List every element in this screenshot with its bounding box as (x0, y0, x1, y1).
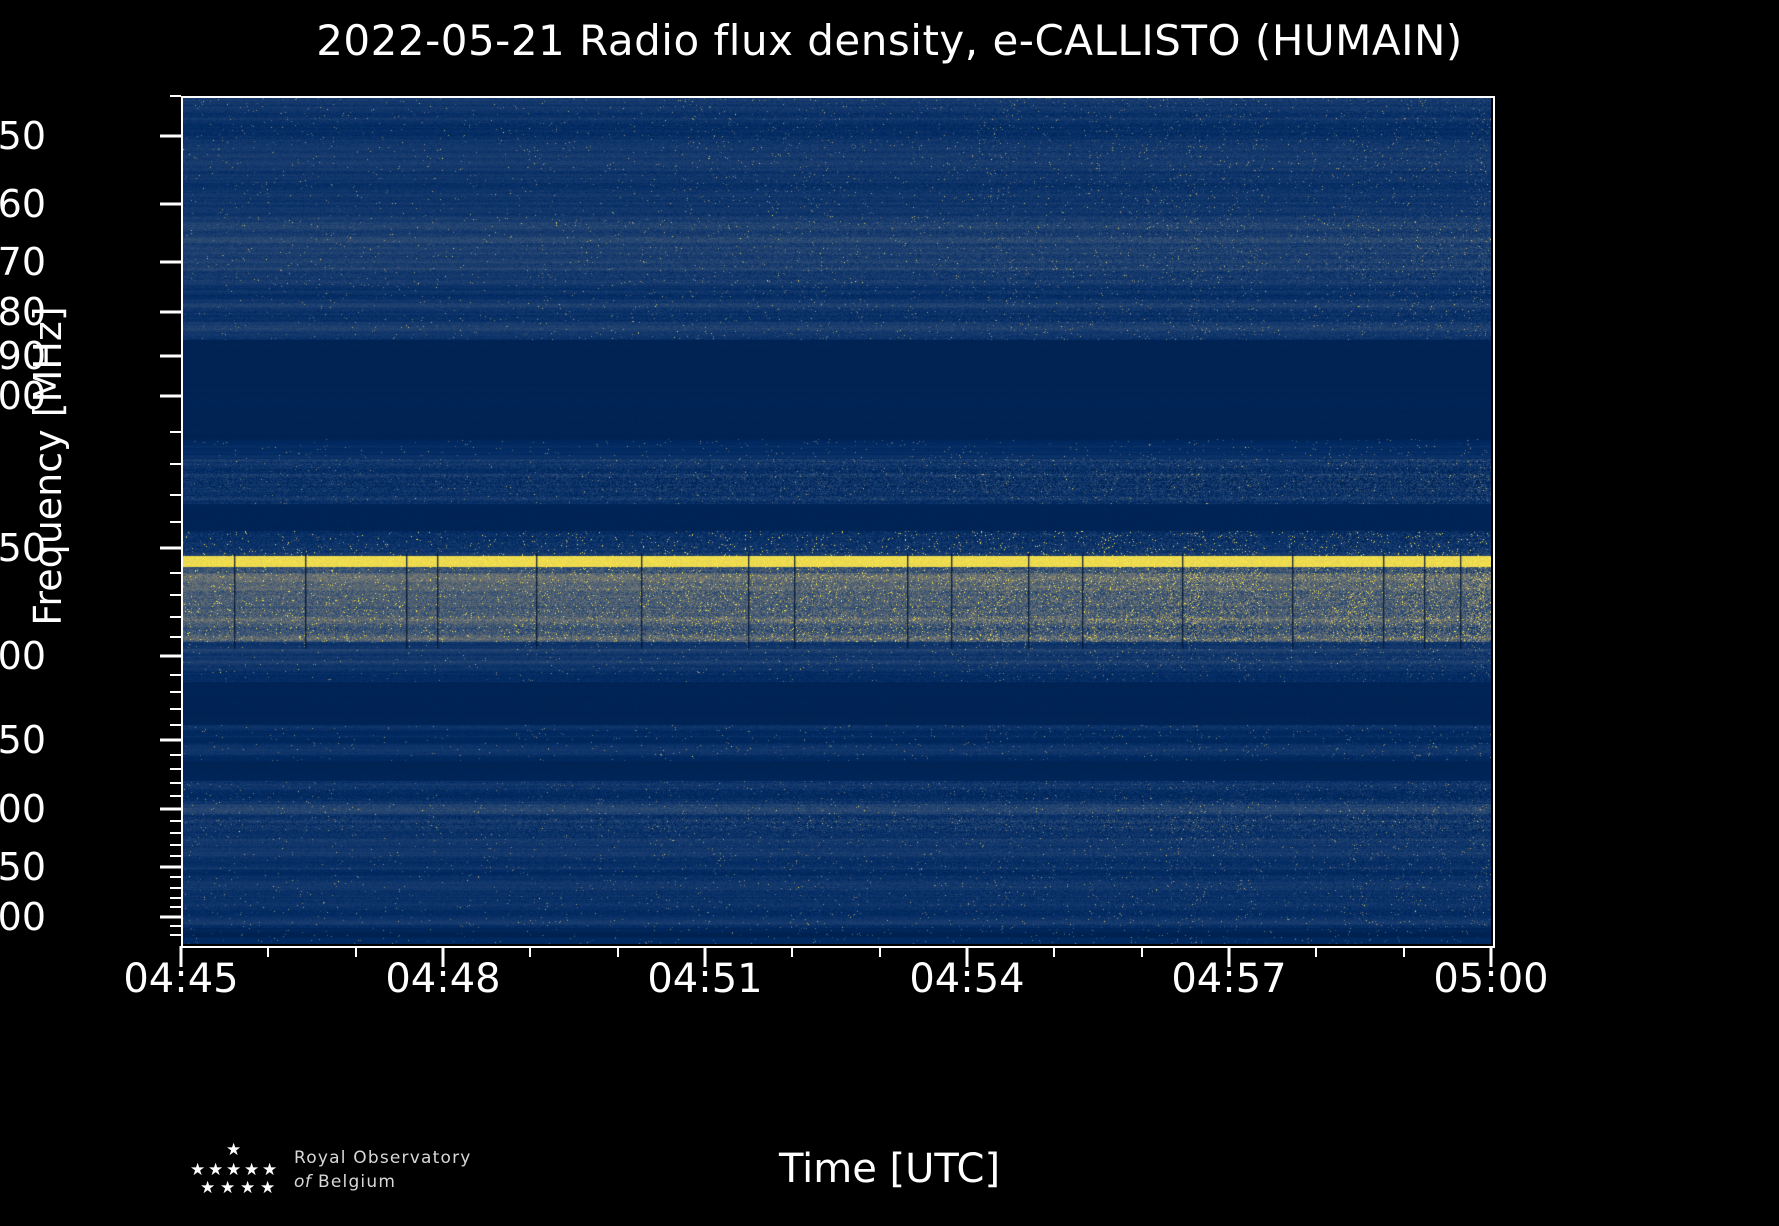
y-tick-minor (170, 925, 181, 927)
star-icon: ★ (208, 1162, 223, 1179)
y-tick-minor (170, 768, 181, 770)
x-tick-mark (704, 946, 707, 967)
eu-stars-icon: ★★★★★★★★★★ (178, 1142, 288, 1200)
x-tick-minor (267, 946, 269, 957)
star-icon: ★ (226, 1142, 241, 1159)
y-tick-minor (170, 616, 181, 618)
y-tick-minor (170, 782, 181, 784)
y-tick-minor (170, 754, 181, 756)
star-icon: ★ (262, 1162, 277, 1179)
y-tick-mark-60 (160, 203, 181, 206)
star-icon: ★ (220, 1180, 235, 1197)
y-tick-mark-350 (160, 865, 181, 868)
x-tick-minor (529, 946, 531, 957)
y-tick-minor (170, 594, 181, 596)
y-tick-minor (170, 820, 181, 822)
x-tick-minor (879, 946, 881, 957)
y-tick-minor (170, 906, 181, 908)
y-tick-mark-300 (160, 807, 181, 810)
y-tick-minor (170, 691, 181, 693)
page-title: 2022-05-21 Radio flux density, e-CALLIST… (0, 16, 1779, 65)
y-tick-minor (170, 708, 181, 710)
y-tick-minor (170, 494, 181, 496)
x-tick-minor (1141, 946, 1143, 957)
y-tick-mark-400 (160, 915, 181, 918)
y-tick-mark-150 (160, 547, 181, 550)
star-icon: ★ (260, 1180, 275, 1197)
star-icon: ★ (226, 1162, 241, 1179)
star-icon: ★ (200, 1180, 215, 1197)
y-tick-label-50: 50 (0, 114, 46, 158)
y-tick-minor (170, 832, 181, 834)
y-tick-minor (170, 724, 181, 726)
x-tick-minor (1053, 946, 1055, 957)
y-tick-minor (170, 887, 181, 889)
y-tick-minor (170, 636, 181, 638)
star-icon: ★ (190, 1162, 205, 1179)
y-tick-label-300: 300 (0, 787, 46, 831)
y-tick-label-80: 80 (0, 290, 46, 334)
y-tick-minor (170, 463, 181, 465)
x-tick-minor (1403, 946, 1405, 957)
y-tick-mark-50 (160, 134, 181, 137)
y-tick-mark-100 (160, 394, 181, 397)
spectrogram-canvas[interactable] (181, 96, 1491, 944)
y-tick-minor (170, 876, 181, 878)
y-tick-mark-90 (160, 355, 181, 358)
y-tick-minor (170, 674, 181, 676)
x-tick-minor (791, 946, 793, 957)
royal-observatory-logo: ★★★★★★★★★★ Royal Observatory of Belgium (178, 1142, 578, 1204)
x-tick-minor (1315, 946, 1317, 957)
x-tick-mark (966, 946, 969, 967)
y-tick-label-60: 60 (0, 182, 46, 226)
y-tick-minor (170, 795, 181, 797)
y-tick-mark-80 (160, 311, 181, 314)
logo-text: Royal Observatory of Belgium (294, 1146, 574, 1194)
star-icon: ★ (244, 1162, 259, 1179)
y-tick-mark-200 (160, 655, 181, 658)
y-tick-label-250: 250 (0, 718, 46, 762)
y-tick-label-350: 350 (0, 845, 46, 889)
y-tick-label-70: 70 (0, 240, 46, 284)
y-tick-label-200: 200 (0, 634, 46, 678)
x-tick-mark (180, 946, 183, 967)
spectrogram-plot[interactable] (181, 96, 1491, 944)
star-icon: ★ (240, 1180, 255, 1197)
y-tick-minor (170, 572, 181, 574)
x-tick-mark (1490, 946, 1493, 967)
x-tick-mark (1228, 946, 1231, 967)
spectrogram-figure: 2022-05-21 Radio flux density, e-CALLIST… (0, 0, 1779, 1226)
y-tick-minor (170, 521, 181, 523)
y-tick-label-100: 100 (0, 374, 46, 418)
x-tick-minor (355, 946, 357, 957)
y-tick-minor (170, 844, 181, 846)
y-tick-minor (170, 897, 181, 899)
y-tick-minor (170, 95, 181, 97)
logo-of: of (294, 1172, 311, 1192)
y-tick-minor (170, 431, 181, 433)
x-tick-minor (617, 946, 619, 957)
y-tick-label-400: 400 (0, 895, 46, 939)
y-tick-minor (170, 855, 181, 857)
logo-line-2: Belgium (318, 1172, 396, 1192)
y-tick-mark-250 (160, 739, 181, 742)
logo-line-1: Royal Observatory (294, 1148, 472, 1168)
y-tick-minor (170, 934, 181, 936)
x-tick-mark (442, 946, 445, 967)
y-tick-label-90: 90 (0, 334, 46, 378)
y-tick-mark-70 (160, 260, 181, 263)
y-tick-label-150: 150 (0, 526, 46, 570)
